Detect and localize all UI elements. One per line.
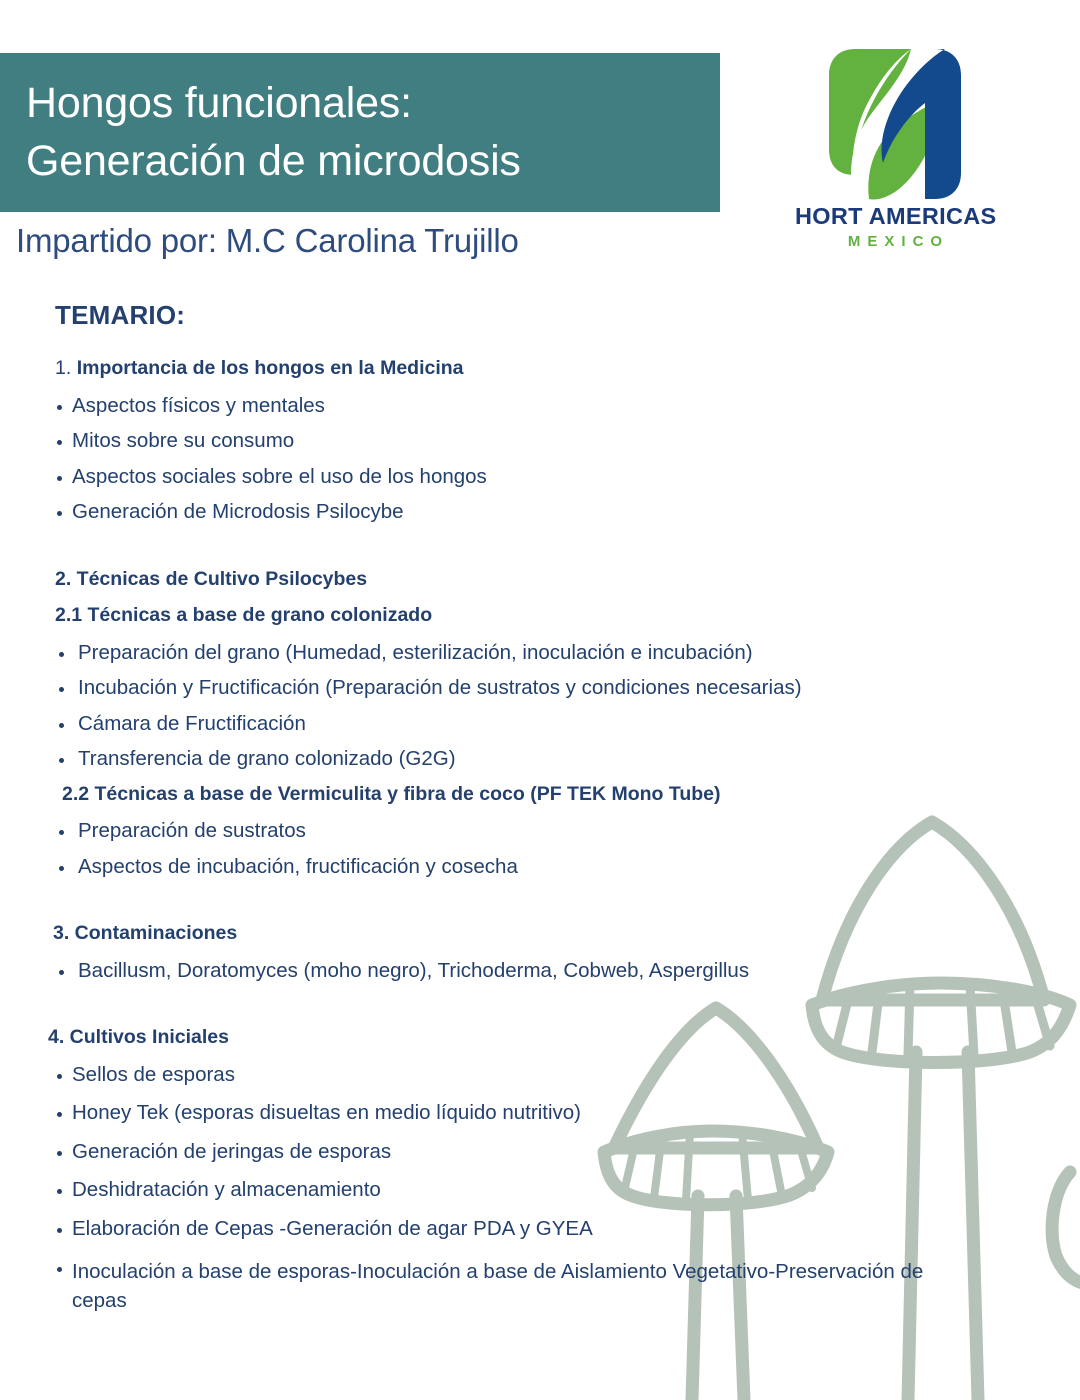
title-banner: Hongos funcionales: Generación de microd… [0,53,720,212]
section-2-1-list: Preparación del grano (Humedad, esterili… [0,643,1080,770]
list-item: Deshidratación y almacenamiento [0,1180,1080,1201]
list-item: Transferencia de grano colonizado (G2G) [0,749,1080,770]
list-item: Elaboración de Cepas -Generación de agar… [0,1219,1080,1240]
list-item: Cámara de Fructificación [0,714,1080,735]
list-item: Generación de Microdosis Psilocybe [0,502,1080,523]
section-2-2-heading: 2.2 Técnicas a base de Vermiculita y fib… [0,785,1080,805]
section-4: 4. Cultivos Iniciales Sellos de esporas … [0,1028,1080,1315]
hort-americas-logo-icon [825,45,965,203]
hort-americas-logo: HORT AMERICAS MEXICO [795,45,995,249]
temario-heading: TEMARIO: [55,300,1080,331]
section-1: 1. Importancia de los hongos en la Medic… [0,359,1080,523]
title-line-1: Hongos funcionales: [26,75,720,132]
list-item: Incubación y Fructificación (Preparación… [0,678,1080,699]
presenter-subtitle: Impartido por: M.C Carolina Trujillo [16,222,519,260]
temario-content: TEMARIO: 1. Importancia de los hongos en… [0,300,1080,1333]
list-item: Inoculación a base de esporas-Inoculació… [0,1257,1080,1315]
section-2-2-list: Preparación de sustratos Aspectos de inc… [0,821,1080,877]
list-item: Aspectos sociales sobre el uso de los ho… [0,467,1080,488]
logo-wordmark: HORT AMERICAS [795,205,995,229]
logo-subword: MEXICO [795,234,995,249]
list-item: Mitos sobre su consumo [0,431,1080,452]
section-4-list: Sellos de esporas Honey Tek (esporas dis… [0,1065,1080,1316]
list-item: Sellos de esporas [0,1065,1080,1086]
section-1-heading: 1. Importancia de los hongos en la Medic… [0,359,1080,379]
section-4-heading: 4. Cultivos Iniciales [0,1028,1080,1048]
section-2-heading: 2. Técnicas de Cultivo Psilocybes [0,570,1080,590]
section-gap-1 [0,538,1080,570]
title-line-2: Generación de microdosis [26,133,720,190]
list-item: Bacillusm, Doratomyces (moho negro), Tri… [0,961,1080,982]
section-2: 2. Técnicas de Cultivo Psilocybes 2.1 Té… [0,570,1080,878]
list-item: Aspectos físicos y mentales [0,396,1080,417]
section-2-1-heading: 2.1 Técnicas a base de grano colonizado [0,606,1080,626]
section-1-number: 1. [55,357,71,379]
section-gap-3 [0,996,1080,1028]
list-item: Honey Tek (esporas disueltas en medio lí… [0,1103,1080,1124]
section-1-title: Importancia de los hongos en la Medicina [77,357,464,379]
list-item: Generación de jeringas de esporas [0,1142,1080,1163]
section-1-list: Aspectos físicos y mentales Mitos sobre … [0,396,1080,523]
list-item: Aspectos de incubación, fructificación y… [0,857,1080,878]
section-3-list: Bacillusm, Doratomyces (moho negro), Tri… [0,961,1080,982]
section-gap-2 [0,892,1080,924]
section-3-heading: 3. Contaminaciones [0,924,1080,944]
section-3: 3. Contaminaciones Bacillusm, Doratomyce… [0,924,1080,981]
list-item: Preparación de sustratos [0,821,1080,842]
list-item: Preparación del grano (Humedad, esterili… [0,643,1080,664]
